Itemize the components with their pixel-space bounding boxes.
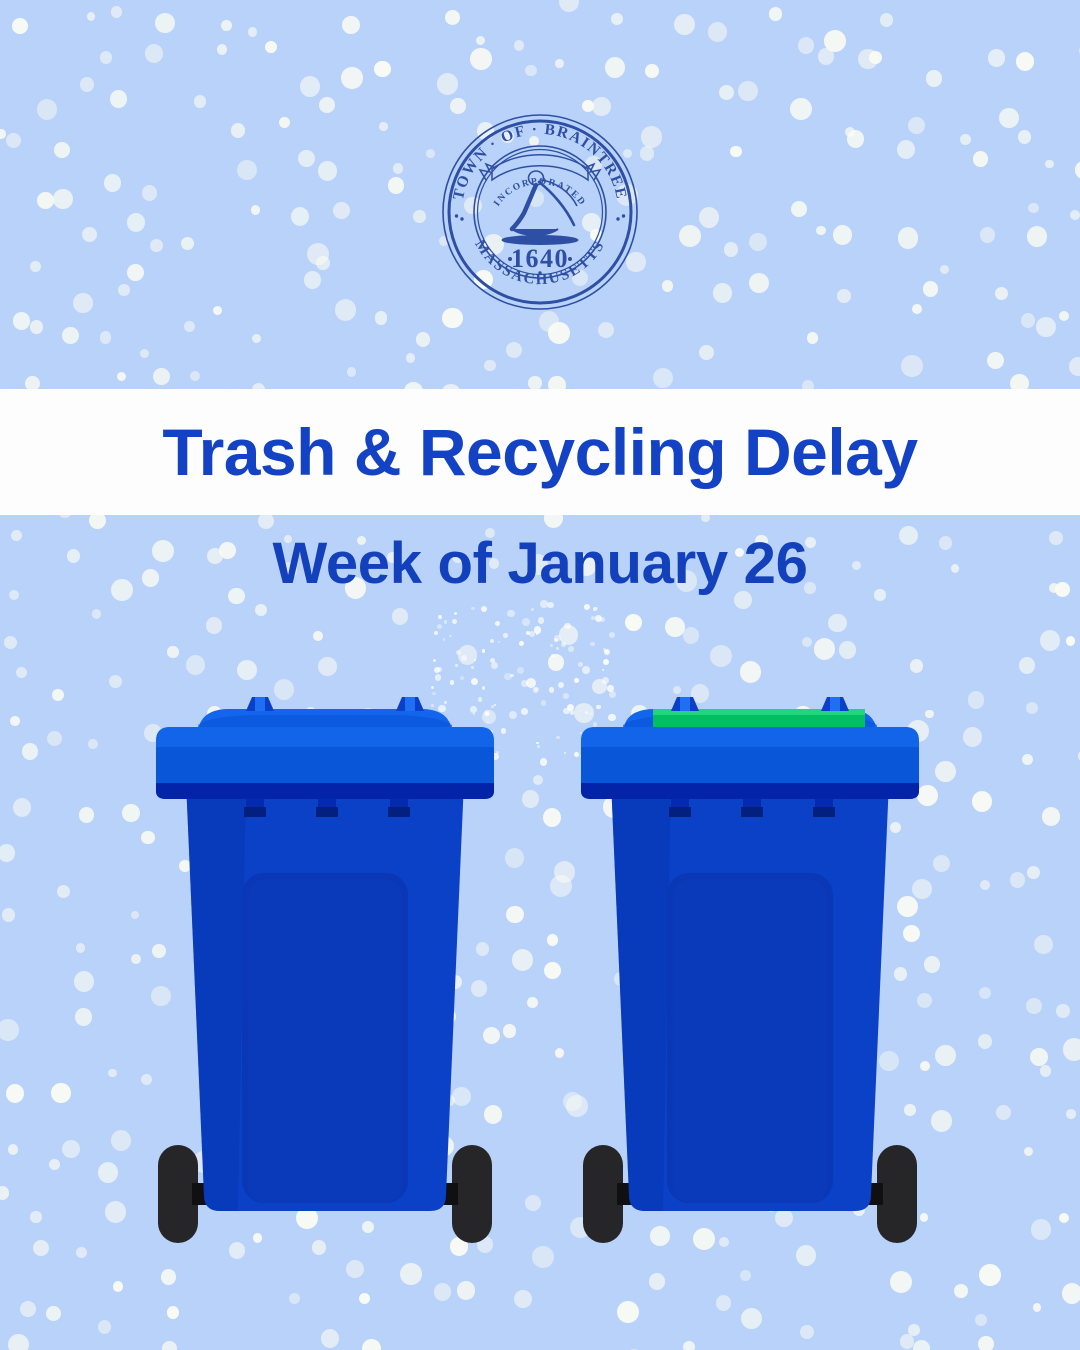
snow-dot xyxy=(954,1284,968,1299)
snow-dot xyxy=(708,22,727,42)
snow-dot xyxy=(8,1334,29,1350)
snow-flurry-dot xyxy=(433,659,436,662)
seal-outer-top-text: TOWN · OF · BRAINTREE xyxy=(450,121,630,201)
snow-dot xyxy=(359,1293,370,1305)
snow-dot xyxy=(92,609,101,618)
snow-dot xyxy=(592,679,607,694)
snow-dot xyxy=(392,608,408,625)
snow-dot xyxy=(1033,1303,1042,1312)
snow-flurry-dot xyxy=(471,678,478,685)
snow-dot xyxy=(674,14,694,35)
snow-dot xyxy=(167,1306,179,1318)
snow-dot xyxy=(342,16,360,35)
snow-dot xyxy=(900,1334,915,1349)
snow-flurry-dot xyxy=(593,607,597,611)
snow-dot xyxy=(559,625,579,645)
snow-flurry-dot xyxy=(603,659,609,665)
snow-flurry-dot xyxy=(531,608,534,611)
snow-dot xyxy=(913,1340,930,1350)
snow-flurry-dot xyxy=(456,650,462,656)
snow-dot xyxy=(839,641,856,659)
snow-flurry-dot xyxy=(482,649,485,652)
snow-dot xyxy=(153,368,170,385)
snow-flurry-dot xyxy=(503,633,508,638)
snow-dot xyxy=(374,61,390,78)
snow-dot xyxy=(12,18,28,34)
snow-dot xyxy=(194,95,206,107)
snow-flurry-dot xyxy=(434,667,440,673)
snow-flurry-dot xyxy=(582,666,590,674)
snow-dot xyxy=(4,636,17,649)
snow-dot xyxy=(910,659,923,673)
snow-flurry-dot xyxy=(471,607,474,610)
snow-dot xyxy=(313,631,323,641)
snow-flurry-dot xyxy=(607,685,613,691)
snow-flurry-dot xyxy=(564,623,570,629)
snow-dot xyxy=(362,1339,381,1350)
snow-dot xyxy=(289,1293,299,1304)
snow-dot xyxy=(506,342,522,358)
snow-flurry-dot xyxy=(536,633,538,635)
snow-dot xyxy=(605,57,625,78)
snow-dot xyxy=(109,675,122,688)
snow-flurry-dot xyxy=(521,680,528,687)
snow-flurry-dot xyxy=(596,607,598,609)
snow-dot xyxy=(1069,357,1080,375)
snow-dot xyxy=(818,48,835,65)
snow-flurry-dot xyxy=(529,631,535,637)
snow-dot xyxy=(470,48,491,70)
snow-dot xyxy=(798,37,814,54)
snow-flurry-dot xyxy=(604,649,610,655)
snow-dot xyxy=(434,1283,451,1301)
bin-lid-nub xyxy=(396,697,424,711)
snow-dot xyxy=(1040,630,1060,650)
snow-flurry-dot xyxy=(591,616,595,620)
snow-dot xyxy=(814,638,836,660)
bin-body-shading xyxy=(186,781,246,1211)
snow-dot xyxy=(400,1263,422,1285)
snow-dot xyxy=(445,10,460,25)
snow-flurry-dot xyxy=(602,669,605,672)
snow-dot xyxy=(16,667,27,678)
snow-dot xyxy=(716,1295,731,1311)
snow-dot xyxy=(206,617,222,633)
snow-dot xyxy=(548,654,564,671)
snow-dot xyxy=(155,13,175,33)
snow-flurry-dot xyxy=(495,621,501,627)
snow-dot xyxy=(710,645,732,667)
snow-dot xyxy=(237,660,257,680)
snow-dot xyxy=(719,85,734,100)
snow-dot xyxy=(979,1264,1001,1286)
snow-dot xyxy=(880,13,893,26)
snow-flurry-dot xyxy=(507,610,515,618)
snow-flurry-dot xyxy=(444,620,447,623)
snow-flurry-dot xyxy=(534,626,542,634)
subtitle-block: Week of January 26 xyxy=(0,535,1080,593)
snow-flurry-dot xyxy=(481,606,487,612)
snow-dot xyxy=(30,320,43,333)
snow-dot xyxy=(258,513,274,529)
bin-lid-nub xyxy=(821,697,849,711)
snow-flurry-dot xyxy=(540,600,548,608)
snow-dot xyxy=(62,327,79,344)
snow-flurry-dot xyxy=(609,632,615,638)
snow-dot xyxy=(514,1290,532,1308)
snow-dot xyxy=(80,77,94,91)
snow-flurry-dot xyxy=(595,615,602,622)
snow-dot xyxy=(740,1270,751,1282)
snow-flurry-dot xyxy=(437,624,442,629)
snow-flurry-dot xyxy=(482,686,486,690)
snow-flurry-dot xyxy=(474,659,476,661)
snow-flurry-dot xyxy=(558,682,564,688)
snow-dot xyxy=(458,645,477,664)
snow-dot xyxy=(869,51,883,65)
snow-flurry-dot xyxy=(434,631,438,635)
snow-flurry-dot xyxy=(454,612,457,615)
snow-flurry-dot xyxy=(590,642,594,646)
snow-dot xyxy=(1066,636,1075,646)
snow-flurry-dot xyxy=(556,647,559,650)
snow-flurry-dot xyxy=(450,680,454,684)
snow-dot xyxy=(318,657,336,676)
snow-flurry-dot xyxy=(554,635,560,641)
snow-flurry-dot xyxy=(549,687,555,693)
bin-front-panel-inner xyxy=(248,879,402,1203)
snow-dot xyxy=(476,36,485,45)
snow-flurry-dot xyxy=(578,662,583,667)
snow-flurry-dot xyxy=(603,648,606,651)
trash-bin-graphic xyxy=(150,695,500,1255)
recycling-bin-graphic xyxy=(575,695,925,1255)
snow-flurry-dot xyxy=(490,658,495,663)
seal-figure-icon xyxy=(502,171,578,245)
snow-dot xyxy=(416,332,430,346)
snow-dot xyxy=(100,51,112,63)
snow-flurry-dot xyxy=(522,618,530,626)
snow-dot xyxy=(346,1260,364,1278)
snow-flurry-dot xyxy=(605,650,608,653)
bin-body-shading xyxy=(611,781,671,1211)
snow-flurry-dot xyxy=(443,638,446,641)
snow-dot xyxy=(87,12,96,21)
snow-dot xyxy=(699,345,714,361)
title-banner: Trash & Recycling Delay xyxy=(0,389,1080,515)
snow-dot xyxy=(300,76,320,97)
snow-dot xyxy=(683,627,700,644)
snow-dot xyxy=(525,65,536,77)
snow-dot xyxy=(1062,1283,1080,1304)
snow-dot xyxy=(901,355,923,377)
snow-dot xyxy=(975,1314,987,1326)
bin-front-panel-inner xyxy=(673,879,827,1203)
snow-flurry-dot xyxy=(534,687,539,692)
snow-dot xyxy=(167,646,178,658)
snow-dot xyxy=(611,13,623,25)
snow-dot xyxy=(406,353,415,362)
snow-dot xyxy=(625,614,641,631)
snow-flurry-dot xyxy=(471,666,474,669)
snow-dot xyxy=(1016,52,1034,70)
snow-flurry-dot xyxy=(455,664,457,666)
snow-dot xyxy=(321,1329,340,1348)
snow-dot xyxy=(347,367,357,377)
snow-flurry-dot xyxy=(449,635,451,637)
snow-dot xyxy=(617,1301,639,1323)
bin-lid-band-highlight xyxy=(156,727,494,747)
snow-dot xyxy=(186,655,205,674)
snow-dot xyxy=(484,360,495,372)
snow-dot xyxy=(683,1341,695,1350)
snow-dot xyxy=(1019,657,1035,674)
bin-lid-band-highlight xyxy=(581,727,919,747)
snow-dot xyxy=(265,41,277,53)
snow-dot xyxy=(824,30,846,52)
snow-dot xyxy=(162,1341,177,1350)
snow-dot xyxy=(526,678,536,689)
snow-dot xyxy=(252,334,261,343)
snow-flurry-dot xyxy=(602,677,609,684)
snow-dot xyxy=(769,7,782,20)
snow-dot xyxy=(548,322,570,344)
snow-dot xyxy=(926,70,942,86)
snow-dot xyxy=(110,90,127,108)
poster-canvas: TOWN · OF · BRAINTREE MASSACHUSETTS INCO… xyxy=(0,0,1080,1350)
snow-flurry-dot xyxy=(550,644,553,647)
snow-dot xyxy=(1036,317,1056,337)
snow-dot xyxy=(740,661,761,683)
snow-dot xyxy=(559,0,579,12)
snow-dot xyxy=(190,371,201,382)
snow-flurry-dot xyxy=(600,617,605,622)
snow-dot xyxy=(978,1336,993,1350)
snow-flurry-dot xyxy=(517,667,524,674)
snow-flurry-dot xyxy=(533,687,539,693)
snow-dot xyxy=(184,321,195,332)
snow-flurry-dot xyxy=(568,646,574,652)
snow-dot xyxy=(98,1320,111,1334)
seal-block: TOWN · OF · BRAINTREE MASSACHUSETTS INCO… xyxy=(0,112,1080,317)
snow-flurry-dot xyxy=(461,655,467,661)
page-title: Trash & Recycling Delay xyxy=(162,419,917,485)
subtitle: Week of January 26 xyxy=(0,535,1080,593)
snow-flurry-dot xyxy=(547,602,553,608)
snow-dot xyxy=(653,368,673,388)
snow-flurry-dot xyxy=(538,617,545,624)
snow-flurry-dot xyxy=(437,667,442,672)
snow-dot xyxy=(248,27,258,37)
snow-dot xyxy=(514,40,524,50)
snow-dot xyxy=(46,1306,61,1322)
snow-flurry-dot xyxy=(438,615,442,619)
snow-dot xyxy=(649,1273,665,1289)
snow-dot xyxy=(140,349,149,358)
snow-dot xyxy=(457,1281,475,1299)
snow-dot xyxy=(437,73,458,95)
snow-dot xyxy=(341,67,362,89)
snow-dot xyxy=(111,6,122,17)
snow-dot xyxy=(255,604,267,616)
snow-dot xyxy=(988,49,1005,66)
snow-dot xyxy=(221,20,232,31)
snow-flurry-dot xyxy=(435,674,441,680)
snow-dot xyxy=(145,44,163,63)
snow-flurry-dot xyxy=(504,673,512,681)
snow-flurry-dot xyxy=(491,662,498,669)
trash-bin-svg xyxy=(150,695,500,1255)
snow-dot xyxy=(645,64,659,78)
snow-dot xyxy=(828,614,846,633)
snow-dot xyxy=(598,322,614,339)
snow-flurry-dot xyxy=(498,641,501,644)
snow-dot xyxy=(890,1271,912,1293)
recycling-bin-svg xyxy=(575,695,925,1255)
bin-lid-nub xyxy=(671,697,699,711)
snow-dot xyxy=(802,637,812,648)
snow-dot xyxy=(117,372,126,381)
snow-flurry-dot xyxy=(510,674,514,678)
bin-lid-nub xyxy=(246,697,274,711)
snow-flurry-dot xyxy=(584,604,590,610)
snow-dot xyxy=(800,1325,814,1339)
seal-ribbon xyxy=(480,155,600,180)
snow-flurry-dot xyxy=(554,638,558,642)
snow-flurry-dot xyxy=(574,678,579,683)
snow-dot xyxy=(319,97,335,113)
snow-dot xyxy=(161,1269,177,1285)
snow-dot xyxy=(217,44,227,54)
snow-dot xyxy=(908,1324,920,1336)
snow-flurry-dot xyxy=(490,639,494,643)
snow-dot xyxy=(741,1308,762,1329)
snow-flurry-dot xyxy=(460,676,464,680)
snow-flurry-dot xyxy=(431,686,434,689)
snow-flurry-dot xyxy=(519,641,524,646)
snow-dot xyxy=(528,376,541,390)
snow-flurry-dot xyxy=(452,619,457,624)
snow-dot xyxy=(858,49,878,69)
snow-dot xyxy=(20,1301,36,1318)
snow-dot xyxy=(738,81,758,102)
snow-dot xyxy=(100,331,112,343)
snow-dot xyxy=(807,332,818,344)
snow-flurry-dot xyxy=(561,642,567,648)
snow-dot xyxy=(665,617,685,637)
snow-dot xyxy=(582,100,593,112)
snow-dot xyxy=(673,686,681,694)
bins-illustration xyxy=(0,695,1080,1255)
snow-dot xyxy=(987,352,1004,369)
bin-lid-band-rim xyxy=(581,783,919,799)
town-of-braintree-seal-icon: TOWN · OF · BRAINTREE MASSACHUSETTS INCO… xyxy=(440,112,640,312)
bin-lid-band-rim xyxy=(156,783,494,799)
seal-year-text: 1640 xyxy=(511,244,569,273)
snow-dot xyxy=(555,59,563,68)
snow-flurry-dot xyxy=(526,631,530,635)
snow-flurry-dot xyxy=(551,654,555,658)
snow-dot xyxy=(113,1281,124,1292)
